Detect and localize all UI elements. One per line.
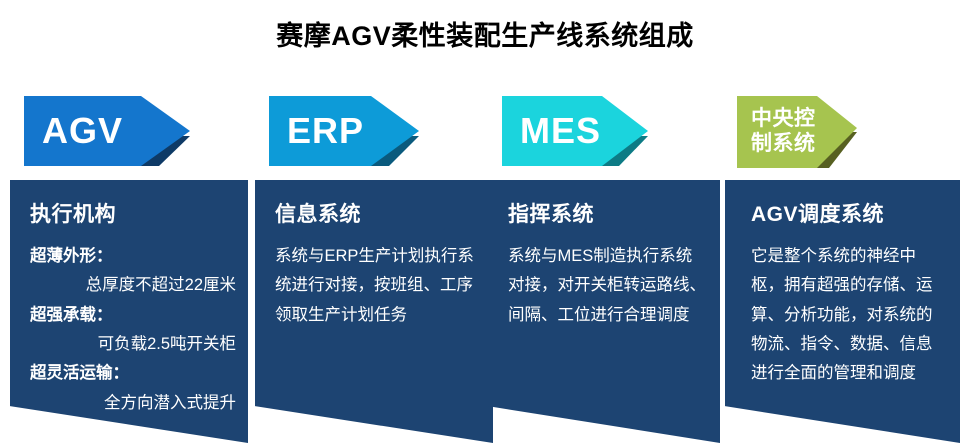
arrow-label-erp: ERP (287, 96, 364, 166)
panel-body-mes: 系统与MES制造执行系统对接，对开关柜转运路线、间隔、工位进行合理调度 (508, 242, 708, 330)
panel-body-central-control: 它是整个系统的神经中枢，拥有超强的存储、运算、分析功能，对系统的物流、指令、数据… (751, 242, 946, 389)
arrow-label-line1: AGV (42, 113, 123, 149)
system-column-agv: AGV 执行机构 超薄外形： 总厚度不超过22厘米 超强承载： 可负载2.5吨开… (10, 96, 248, 443)
panel-agv: 执行机构 超薄外形： 总厚度不超过22厘米 超强承载： 可负载2.5吨开关柜 超… (10, 180, 248, 443)
system-column-erp: ERP 信息系统 系统与ERP生产计划执行系统进行对接，按班组、工序领取生产计划… (255, 96, 493, 443)
feature-label-2: 超强承载： (30, 301, 236, 330)
panel-body-agv: 超薄外形： 总厚度不超过22厘米 超强承载： 可负载2.5吨开关柜 超灵活运输：… (30, 242, 236, 418)
feature-label-1: 超薄外形： (30, 242, 236, 271)
arrow-banner-agv: AGV (24, 96, 190, 166)
panel-central-control: AGV调度系统 它是整个系统的神经中枢，拥有超强的存储、运算、分析功能，对系统的… (725, 180, 960, 443)
arrow-banner-central-control: 中央控 制系统 (737, 96, 857, 168)
feature-label-3: 超灵活运输： (30, 359, 236, 388)
system-columns: AGV 执行机构 超薄外形： 总厚度不超过22厘米 超强承载： 可负载2.5吨开… (0, 96, 970, 443)
arrow-label-central-control: 中央控 制系统 (751, 96, 816, 168)
panel-title-central-control: AGV调度系统 (751, 198, 884, 228)
arrow-label-mes: MES (520, 96, 601, 166)
panel-title-agv: 执行机构 (30, 198, 116, 228)
arrow-label-agv: AGV (42, 96, 123, 166)
feature-value-2: 可负载2.5吨开关柜 (30, 330, 236, 359)
arrow-label-line1: MES (520, 113, 601, 149)
panel-title-mes: 指挥系统 (508, 198, 594, 228)
arrow-label-line2: 制系统 (751, 132, 816, 157)
arrow-label-line1: 中央控 (751, 107, 816, 132)
panel-mes: 指挥系统 系统与MES制造执行系统对接，对开关柜转运路线、间隔、工位进行合理调度 (488, 180, 720, 443)
page-title: 赛摩AGV柔性装配生产线系统组成 (0, 14, 970, 53)
feature-value-3: 全方向潜入式提升 (30, 389, 236, 418)
panel-erp: 信息系统 系统与ERP生产计划执行系统进行对接，按班组、工序领取生产计划任务 (255, 180, 493, 443)
system-column-central-control: 中央控 制系统 AGV调度系统 它是整个系统的神经中枢，拥有超强的存储、运算、分… (725, 96, 960, 443)
arrow-banner-mes: MES (502, 96, 668, 166)
system-column-mes: MES 指挥系统 系统与MES制造执行系统对接，对开关柜转运路线、间隔、工位进行… (488, 96, 720, 443)
feature-value-1: 总厚度不超过22厘米 (30, 271, 236, 300)
arrow-banner-erp: ERP (269, 96, 435, 166)
panel-body-erp: 系统与ERP生产计划执行系统进行对接，按班组、工序领取生产计划任务 (275, 242, 481, 330)
arrow-label-line1: ERP (287, 113, 364, 149)
panel-title-erp: 信息系统 (275, 198, 361, 228)
